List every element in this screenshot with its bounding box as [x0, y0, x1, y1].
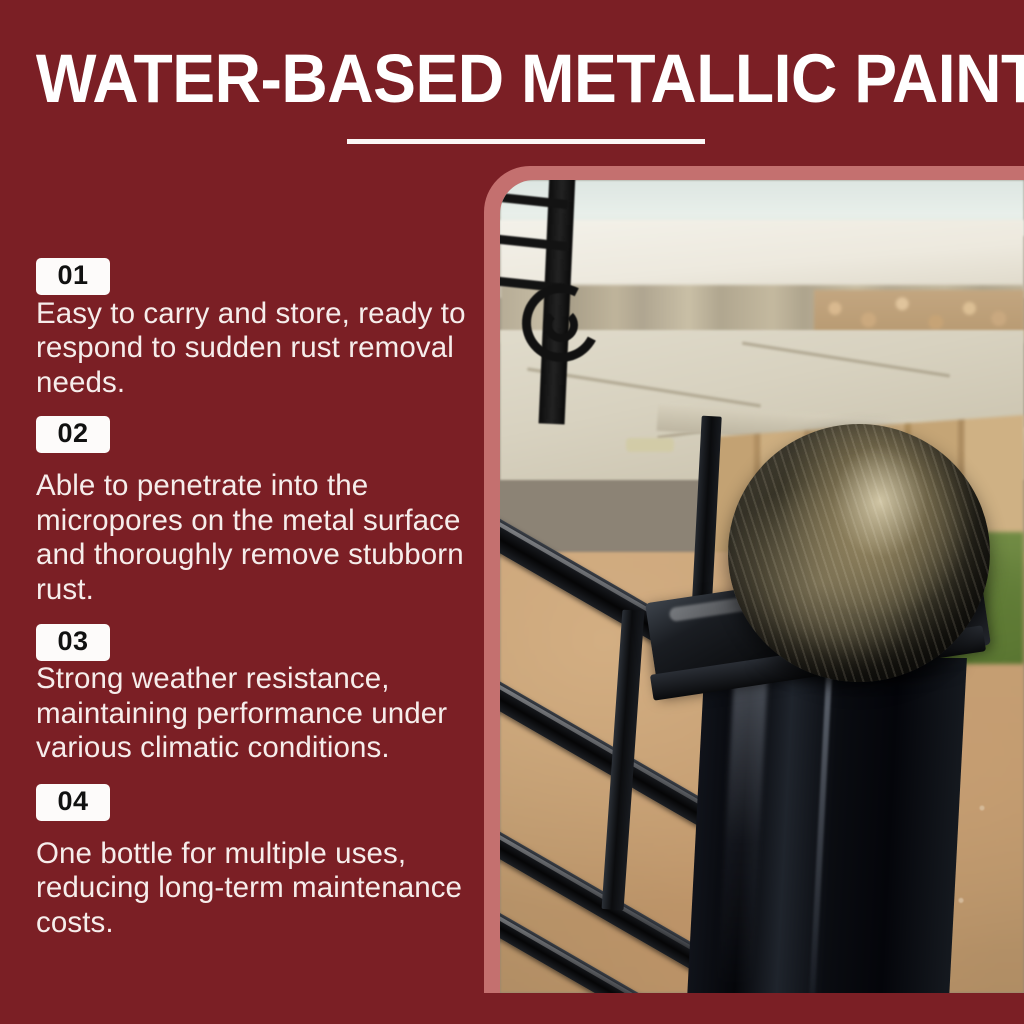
infographic-poster: WATER-BASED METALLIC PAINT 01 Easy to ca… — [0, 0, 1024, 1024]
photo-paver-chip — [626, 438, 674, 452]
feature-text: Strong weather resistance, maintaining p… — [36, 662, 466, 766]
feature-item-03: 03 Strong weather resistance, maintainin… — [36, 624, 466, 765]
feature-text: Easy to carry and store, ready to respon… — [36, 297, 466, 401]
page-title: WATER-BASED METALLIC PAINT — [36, 44, 988, 113]
feature-number-badge: 04 — [36, 784, 110, 821]
feature-item-02: 02 Able to penetrate into the micropores… — [36, 416, 466, 607]
product-photo — [500, 180, 1024, 993]
feature-number-badge: 01 — [36, 258, 110, 295]
feature-text: Able to penetrate into the micropores on… — [36, 469, 466, 607]
feature-number-badge: 02 — [36, 416, 110, 453]
feature-item-04: 04 One bottle for multiple uses, reducin… — [36, 784, 466, 940]
photo-sphere-brush-texture — [728, 424, 990, 682]
photo-iron-scroll-inner — [544, 308, 578, 342]
feature-item-01: 01 Easy to carry and store, ready to res… — [36, 258, 466, 400]
feature-list: 01 Easy to carry and store, ready to res… — [36, 258, 466, 940]
title-divider — [347, 139, 705, 144]
feature-number-badge: 03 — [36, 624, 110, 661]
product-photo-frame — [484, 166, 1024, 993]
feature-text: One bottle for multiple uses, reducing l… — [36, 837, 466, 941]
